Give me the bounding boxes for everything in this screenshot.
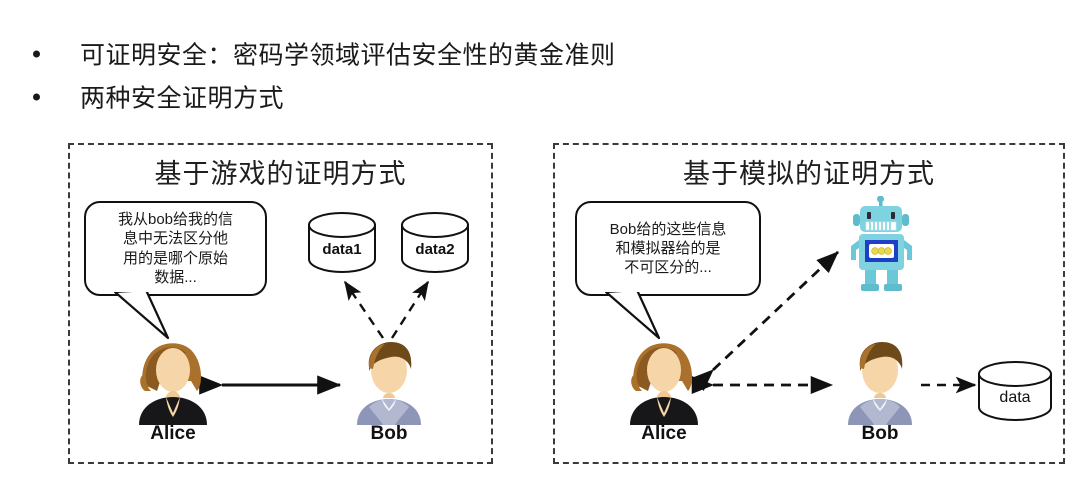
- speech-bubble-line: 息中无法区分他: [118, 229, 233, 248]
- bullet-dot-icon: [33, 93, 40, 100]
- speech-bubble-text: Bob给的这些信息 和模拟器给的是 不可区分的...: [610, 220, 727, 278]
- avatar-name-bob: Bob: [840, 423, 920, 445]
- robot-icon: [843, 196, 921, 294]
- database-cylinder-data1: data1: [307, 211, 377, 273]
- bullet-list: 可证明安全：密码学领域评估安全性的黄金准则 两种安全证明方式: [0, 32, 1000, 118]
- avatar-name-alice: Alice: [133, 423, 213, 445]
- speech-bubble-line: 数据...: [118, 268, 233, 287]
- avatar-alice-game: Alice: [133, 337, 213, 425]
- speech-bubble-line: 不可区分的...: [610, 258, 727, 277]
- avatar-name-alice: Alice: [624, 423, 704, 445]
- speech-bubble-text: 我从bob给我的信 息中无法区分他 用的是哪个原始 数据...: [118, 210, 233, 287]
- bullet-item: 可证明安全：密码学领域评估安全性的黄金准则: [0, 32, 1000, 75]
- bullet-dot-icon: [33, 50, 40, 57]
- speech-bubble-line: 用的是哪个原始: [118, 249, 233, 268]
- panel-title: 基于模拟的证明方式: [555, 152, 1063, 191]
- panel-title: 基于游戏的证明方式: [70, 152, 491, 191]
- speech-bubble-line: Bob给的这些信息: [610, 220, 727, 239]
- bullet-text: 两种安全证明方式: [80, 78, 284, 114]
- avatar-bob-game: Bob: [349, 337, 429, 425]
- speech-bubble-line: 我从bob给我的信: [118, 210, 233, 229]
- bullet-text: 可证明安全：密码学领域评估安全性的黄金准则: [80, 35, 616, 71]
- avatar-alice-sim: Alice: [624, 337, 704, 425]
- speech-bubble-line: 和模拟器给的是: [610, 239, 727, 258]
- speech-bubble-alice-game: 我从bob给我的信 息中无法区分他 用的是哪个原始 数据...: [84, 201, 267, 296]
- avatar-name-bob: Bob: [349, 423, 429, 445]
- database-cylinder-data2: data2: [400, 211, 470, 273]
- speech-bubble-tail-icon: [601, 286, 691, 348]
- database-cylinder-data: data: [977, 360, 1053, 422]
- avatar-bob-sim: Bob: [840, 337, 920, 425]
- speech-bubble-tail-icon: [110, 286, 200, 348]
- speech-bubble-alice-sim: Bob给的这些信息 和模拟器给的是 不可区分的...: [575, 201, 761, 296]
- slide-canvas: 可证明安全：密码学领域评估安全性的黄金准则 两种安全证明方式 基于游戏的证明方式…: [0, 0, 1080, 488]
- bullet-item: 两种安全证明方式: [0, 75, 1000, 118]
